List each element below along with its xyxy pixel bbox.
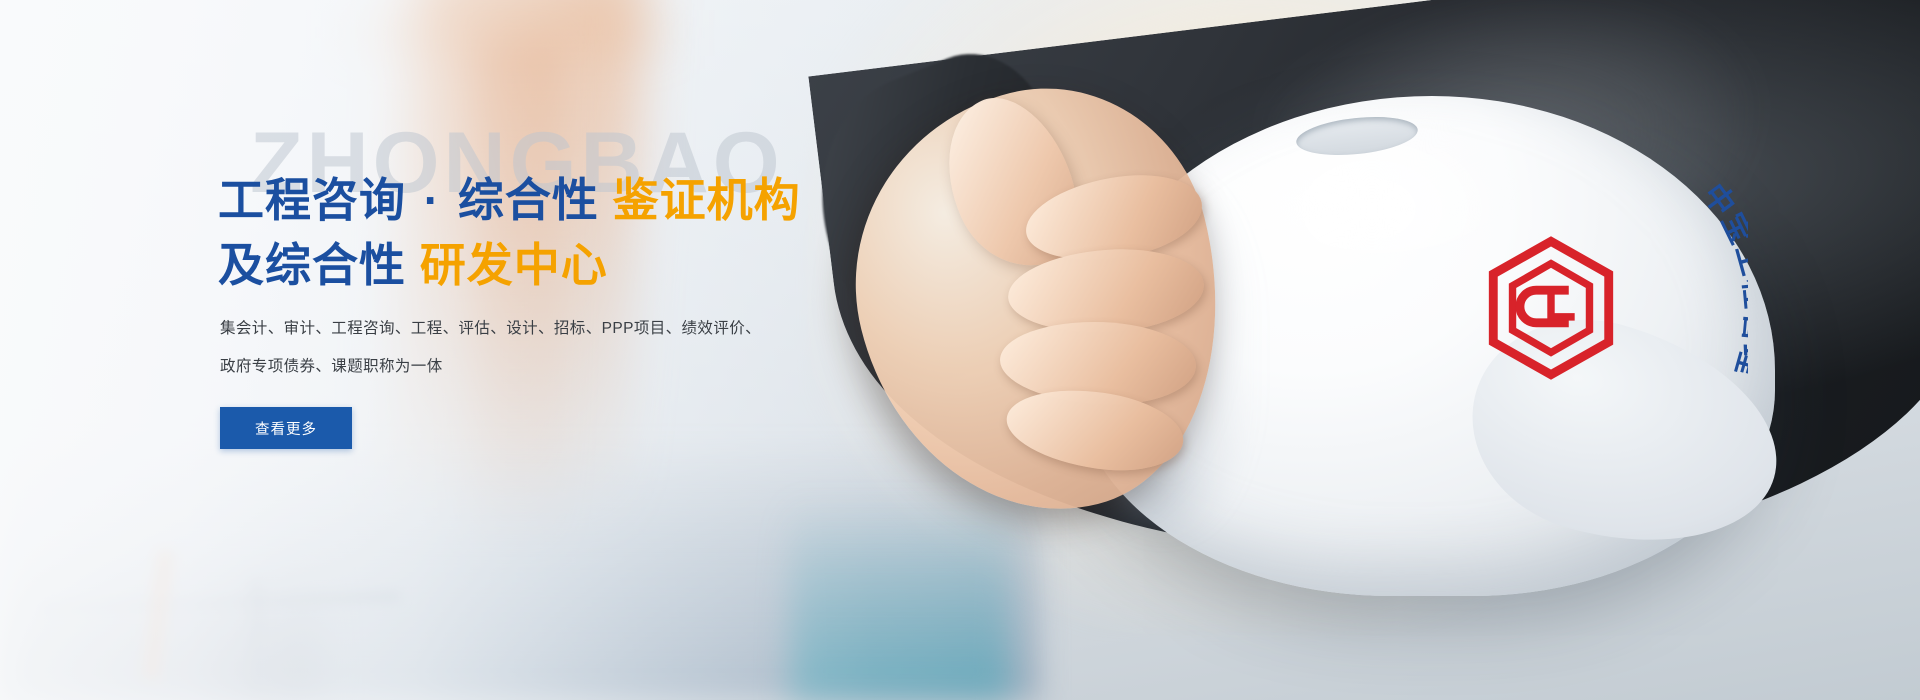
view-more-button[interactable]: 查看更多 [220, 407, 352, 449]
hero-banner: 中宝工程管理 ZHONGBAO 工程咨询 · 综合 [0, 0, 1920, 700]
headline-line2-orange: 研发中心 [420, 239, 608, 291]
svg-text:中宝工程管理: 中宝工程管理 [1697, 178, 1748, 381]
company-logo-icon [1477, 234, 1625, 382]
helmet-brand-text: 中宝工程管理 [1697, 178, 1748, 381]
description-line-2: 政府专项债券、课题职称为一体 [220, 348, 820, 386]
description-block: 集会计、审计、工程咨询、工程、评估、设计、招标、PPP项目、绩效评价、 政府专项… [220, 310, 820, 386]
headline-line2-blue: 及综合性 [218, 239, 406, 291]
headline-line1-blue2: 综合性 [458, 174, 599, 226]
headline-line-2: 及综合性 研发中心 [218, 233, 978, 298]
description-line-1: 集会计、审计、工程咨询、工程、评估、设计、招标、PPP项目、绩效评价、 [220, 310, 820, 348]
headline-line1-blue: 工程咨询 [218, 174, 406, 226]
headline-line-1: 工程咨询 · 综合性 鉴证机构 [218, 168, 978, 233]
headline-line1-orange: 鉴证机构 [613, 174, 801, 226]
headline: 工程咨询 · 综合性 鉴证机构 及综合性 研发中心 [218, 168, 978, 299]
hero-content: ZHONGBAO 工程咨询 · 综合性 鉴证机构 及综合性 研发中心 集会计、审… [218, 0, 978, 700]
headline-separator-dot: · [420, 174, 444, 226]
